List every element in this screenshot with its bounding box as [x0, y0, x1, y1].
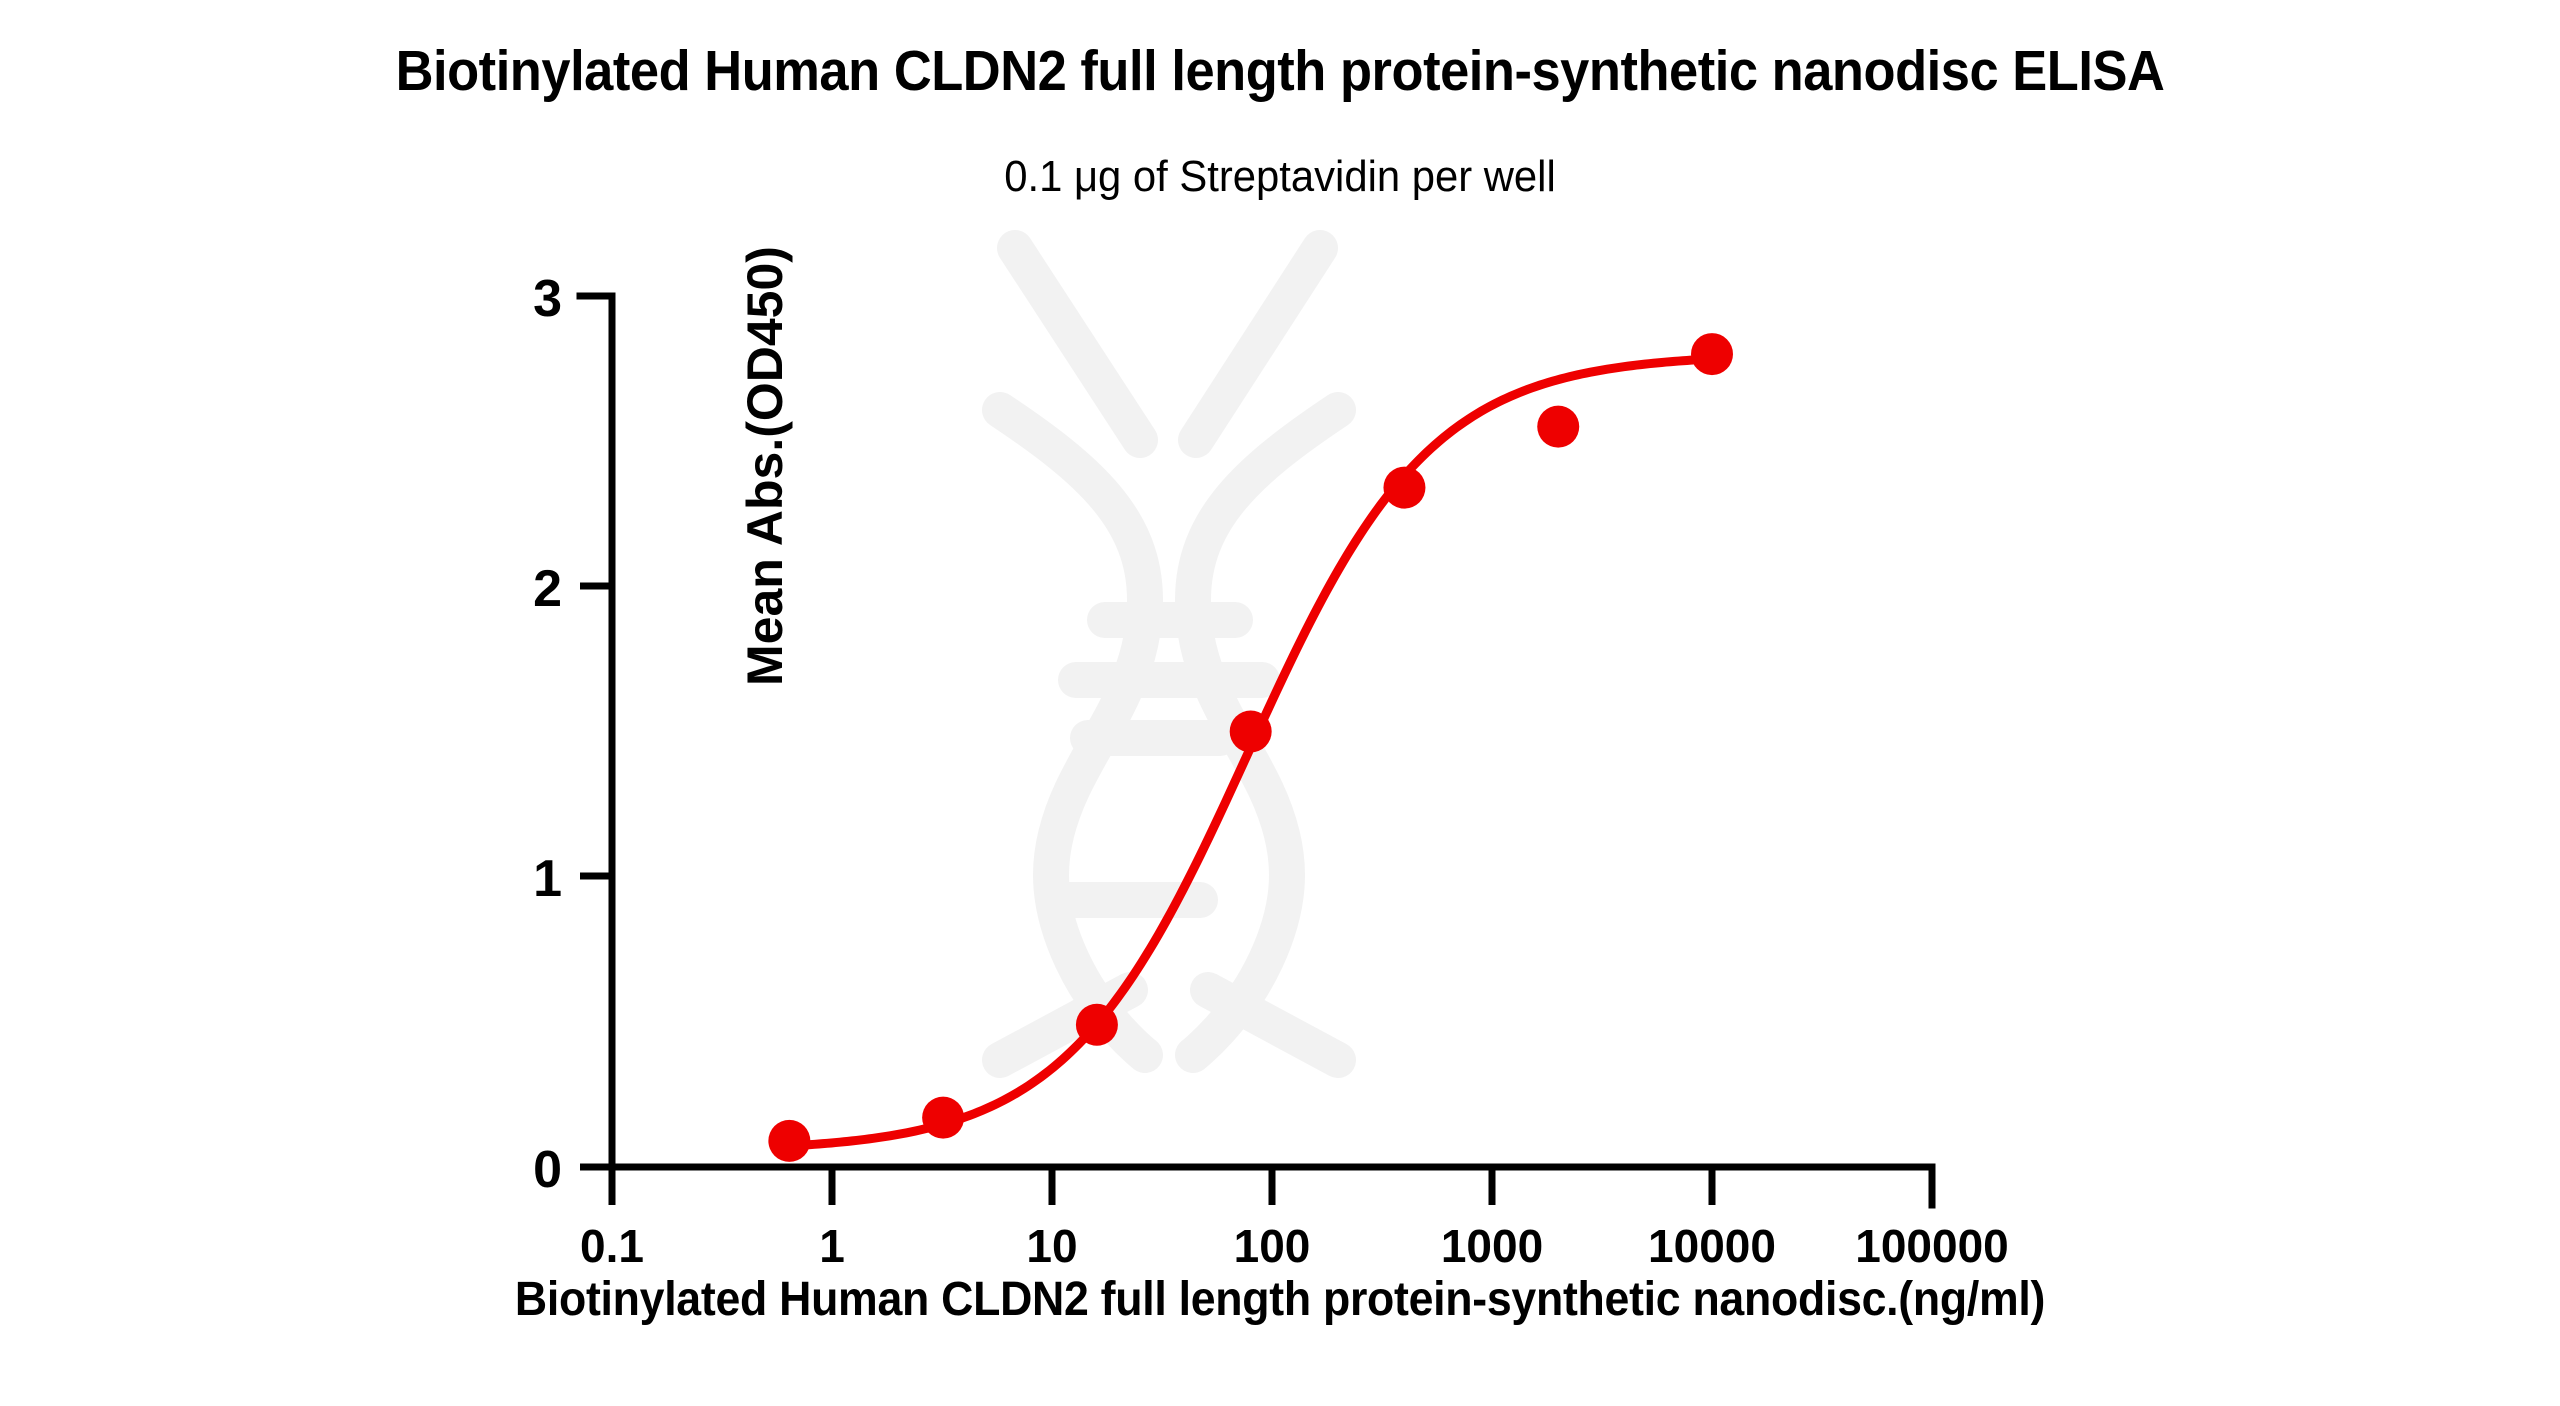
- x-tick-label: 0.1: [580, 1220, 644, 1272]
- data-point: [922, 1097, 964, 1139]
- y-tick-labels: 0 1 2 3: [533, 270, 562, 1199]
- data-point: [1691, 333, 1733, 375]
- plot-area: 0 1 2 3 0.1 1 10 100 1000 10000 100000: [0, 0, 2560, 1406]
- x-tick-label: 1000: [1441, 1220, 1543, 1272]
- x-tick-label: 1: [819, 1220, 845, 1272]
- y-axis-ticks: [580, 586, 612, 1167]
- y-tick-label: 1: [533, 850, 562, 908]
- x-axis-ticks: [612, 1167, 1712, 1205]
- x-tick-label: 10: [1026, 1220, 1077, 1272]
- y-tick-label: 2: [533, 560, 562, 618]
- data-point: [1076, 1004, 1118, 1046]
- x-tick-label: 100000: [1855, 1220, 2009, 1272]
- data-point: [1537, 406, 1579, 448]
- x-tick-label: 10000: [1648, 1220, 1776, 1272]
- y-tick-label: 0: [533, 1141, 562, 1199]
- data-point: [1230, 711, 1272, 753]
- dna-helix-watermark: [1000, 248, 1338, 1060]
- chart-figure: Biotinylated Human CLDN2 full length pro…: [0, 0, 2560, 1406]
- x-tick-label: 100: [1234, 1220, 1311, 1272]
- y-tick-label: 3: [533, 270, 562, 328]
- data-point: [768, 1120, 810, 1162]
- x-tick-labels: 0.1 1 10 100 1000 10000 100000: [580, 1220, 2009, 1272]
- data-point: [1383, 467, 1425, 509]
